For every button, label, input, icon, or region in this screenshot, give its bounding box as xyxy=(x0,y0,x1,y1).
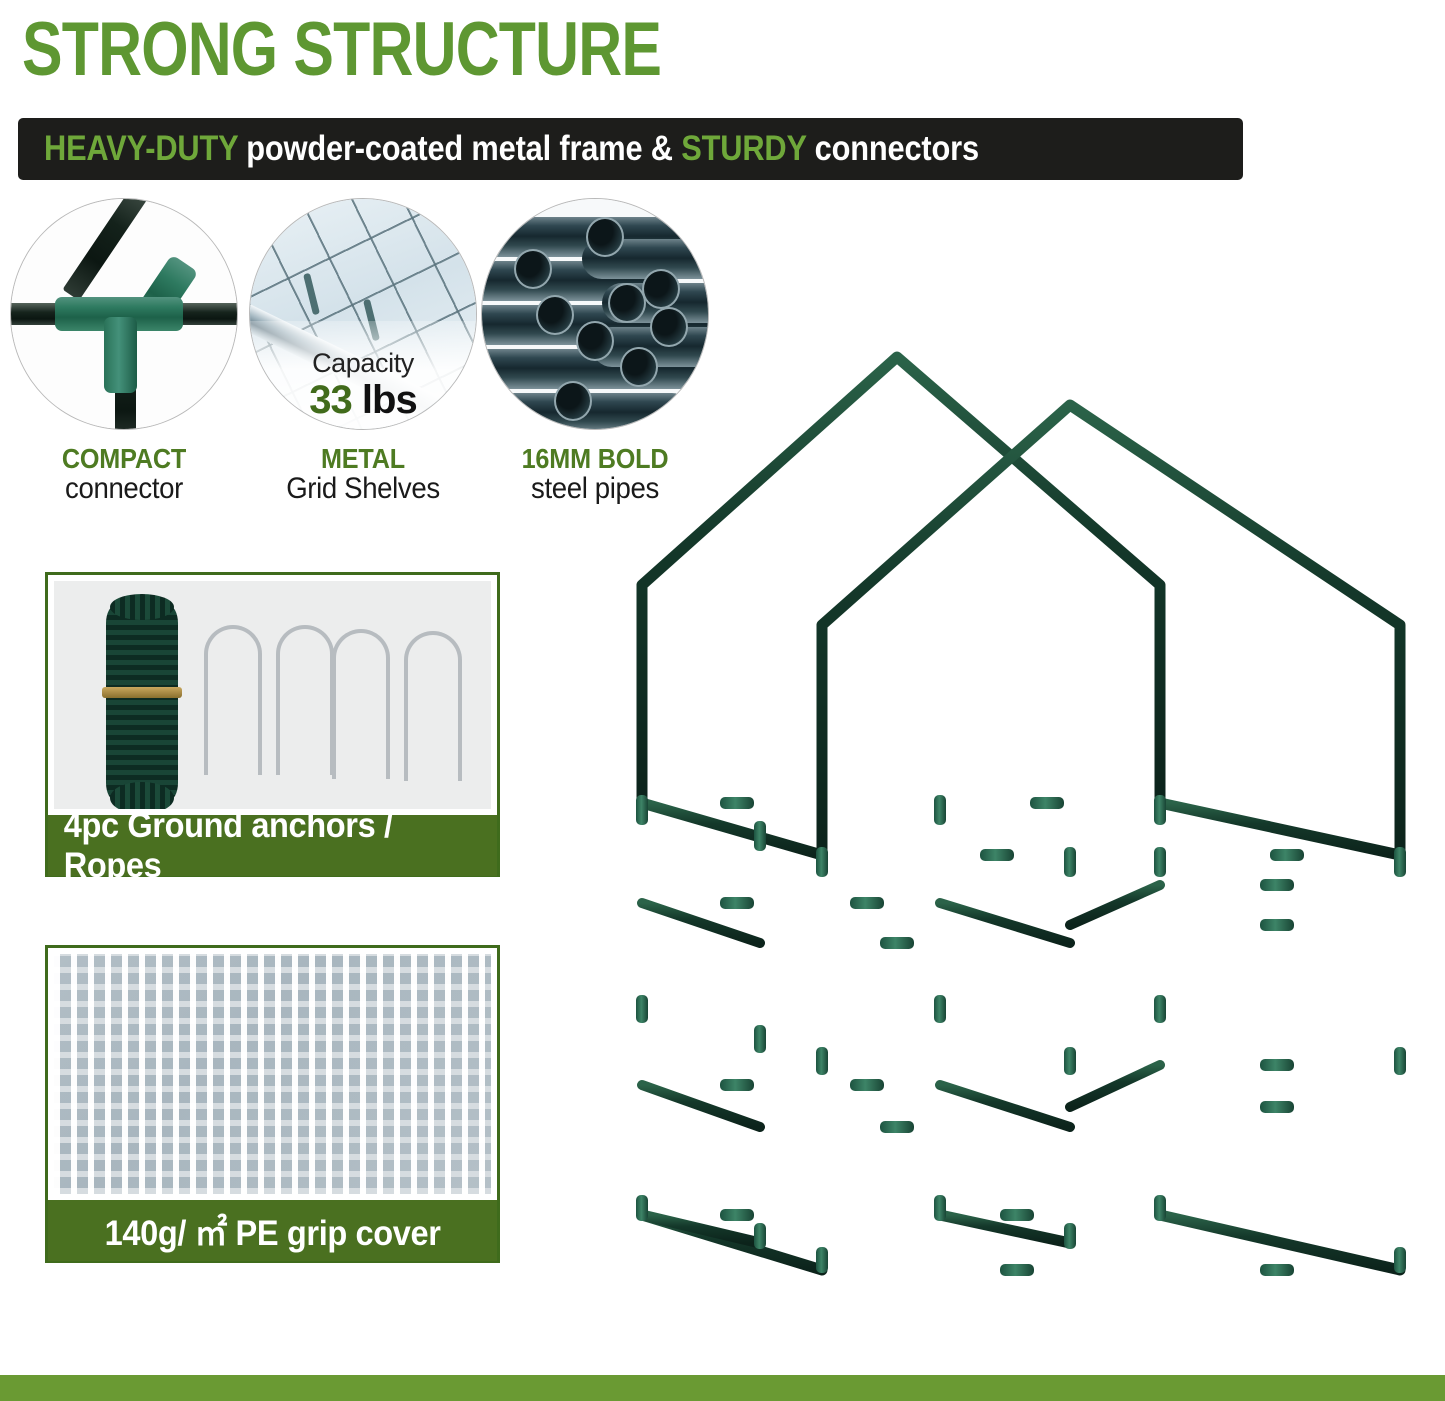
rope-bundle xyxy=(106,605,178,801)
ground-anchor xyxy=(276,625,334,775)
footer-accent-bar xyxy=(0,1375,1445,1401)
greenhouse-frame-icon xyxy=(600,295,1445,1355)
capacity-number: 33 xyxy=(309,378,352,422)
wire-grid-shelf-icon: Capacity 33 lbs xyxy=(249,198,477,430)
feature-caption: COMPACT connector xyxy=(10,444,238,504)
card-label-text: 140g/ ㎡ PE grip cover xyxy=(105,1205,441,1256)
page-title: STRONG STRUCTURE xyxy=(22,2,661,98)
pipe-opening xyxy=(554,381,592,421)
feature-title: COMPACT xyxy=(21,444,226,473)
card-label-text: 4pc Ground anchors / Ropes xyxy=(64,806,482,886)
pe-mesh-cover-icon xyxy=(54,954,491,1194)
pipe-diagonal xyxy=(62,198,157,301)
capacity-value: 33 lbs xyxy=(250,378,476,423)
pe-mesh-texture xyxy=(54,954,491,1194)
subtitle-part-heavy-duty: HEAVY-DUTY xyxy=(44,129,238,168)
ground-anchor xyxy=(332,629,390,779)
subtitle-banner: HEAVY-DUTY powder-coated metal frame & S… xyxy=(18,118,1243,180)
rope-and-anchors-icon xyxy=(54,581,491,809)
card-label: 4pc Ground anchors / Ropes xyxy=(48,815,497,876)
subtitle-part-sturdy: STURDY xyxy=(681,129,806,168)
pipe-opening xyxy=(514,249,552,289)
card-pe-cover: 140g/ ㎡ PE grip cover xyxy=(45,945,500,1263)
rope-band xyxy=(102,687,182,698)
capacity-unit: lbs xyxy=(362,378,417,422)
connector-sleeve-vertical xyxy=(104,317,137,393)
feature-metal-grid-shelves: Capacity 33 lbs METAL Grid Shelves xyxy=(249,198,477,504)
subtitle-part-middle: powder-coated metal frame & xyxy=(238,129,681,168)
ground-anchor xyxy=(204,625,262,775)
subtitle-banner-text: HEAVY-DUTY powder-coated metal frame & S… xyxy=(44,129,979,169)
feature-subtitle: Grid Shelves xyxy=(258,473,468,504)
ground-anchor xyxy=(404,631,462,781)
feature-caption: METAL Grid Shelves xyxy=(249,444,477,504)
card-label: 140g/ ㎡ PE grip cover xyxy=(48,1200,497,1261)
subtitle-part-end: connectors xyxy=(806,129,979,168)
card-ground-anchors: 4pc Ground anchors / Ropes xyxy=(45,572,500,877)
feature-compact-connector: COMPACT connector xyxy=(10,198,238,504)
pipe-opening xyxy=(536,295,574,335)
pipe-connector-icon xyxy=(10,198,238,430)
capacity-label: Capacity xyxy=(250,348,476,379)
feature-title: METAL xyxy=(260,444,465,473)
pipe-opening xyxy=(586,217,624,257)
feature-subtitle: connector xyxy=(19,473,229,504)
